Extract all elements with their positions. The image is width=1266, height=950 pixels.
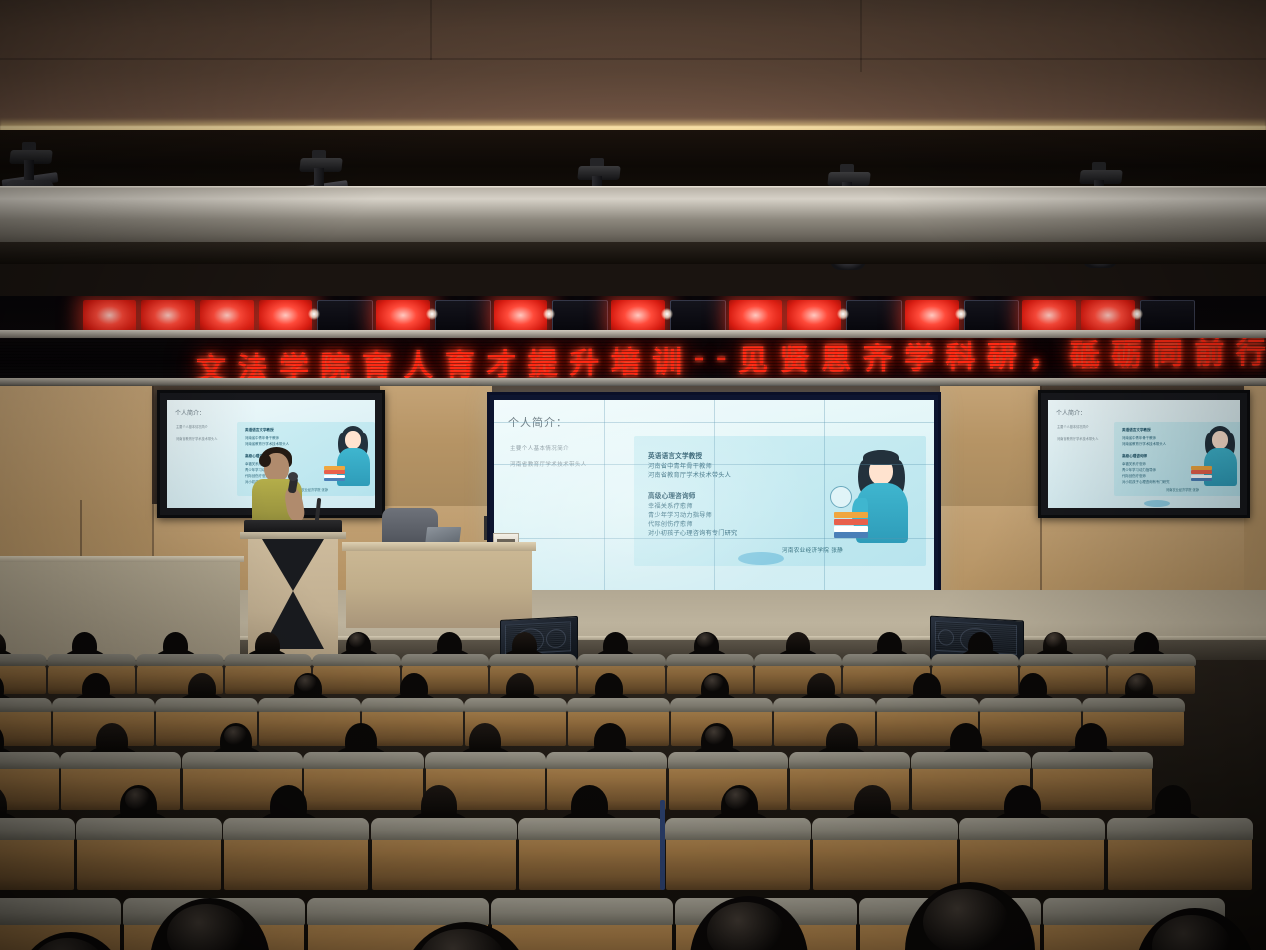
card-line: 幸福关系疗愈师 xyxy=(648,501,693,510)
seat-cushion xyxy=(0,752,60,769)
led-char: 砥 xyxy=(1070,338,1100,375)
illustration-hair-top xyxy=(863,450,899,465)
mini-slide-card: 英语语言文学教授 河南省中青年骨干教师 河南省教育厅学术技术带头人 高级心理咨询… xyxy=(1114,422,1240,496)
mini-card-signature: 河南农业经济学院 张静 xyxy=(1166,487,1199,492)
seat-cushion xyxy=(518,818,664,840)
light-strip-cell xyxy=(787,300,841,334)
book xyxy=(1191,470,1212,474)
microphone-head xyxy=(288,472,298,481)
mini-slide-bullet: 河南省教育厅学术技术带头人 xyxy=(176,436,217,441)
light-strip-cell xyxy=(494,300,548,334)
led-banner-text: 文法学院育人育才提升培训--见贤思齐学科研，砥砺同前行 xyxy=(196,338,1266,382)
seat-cushion xyxy=(1032,752,1153,769)
seat-cushion xyxy=(464,698,567,712)
led-char: 法 xyxy=(237,343,267,382)
auditorium-seat[interactable] xyxy=(372,818,516,890)
auditorium-seat[interactable] xyxy=(790,752,909,810)
video-wall-screen: 个人简介： 主要个人基本情况简介 河南省教育厅学术技术带头人 英语语言文学教授 … xyxy=(494,400,934,596)
mini-card-line: 河南省中青年骨干教师 xyxy=(1122,435,1156,440)
mini-slide-bullet: 河南省教育厅学术技术带头人 xyxy=(1057,436,1098,441)
seat-back xyxy=(932,664,1018,694)
led-char: 提 xyxy=(528,339,558,382)
led-char: 文 xyxy=(196,344,226,382)
illustration-face xyxy=(1212,431,1228,449)
videowall-tile-seam xyxy=(494,538,934,539)
led-char: 研 xyxy=(987,338,1017,376)
book xyxy=(834,519,868,525)
videowall-tile-seam xyxy=(604,400,605,596)
light-strip-cell xyxy=(611,300,665,334)
led-char: - xyxy=(694,343,705,373)
led-char: 行 xyxy=(1236,338,1266,372)
led-char: 训 xyxy=(652,338,682,381)
seat-cushion xyxy=(182,752,303,769)
lectern-top-lip xyxy=(240,532,346,539)
led-char: 才 xyxy=(486,339,516,382)
seat-cushion xyxy=(303,752,424,769)
seat-back xyxy=(0,708,51,746)
seat-back xyxy=(1033,762,1152,810)
truss-shadow xyxy=(0,242,1266,264)
seat-back xyxy=(0,762,59,810)
book xyxy=(324,478,345,481)
book xyxy=(324,470,345,474)
mini-card-line: 河南省教育厅学术技术带头人 xyxy=(245,441,289,446)
side-table-edge xyxy=(342,542,536,551)
led-char: 见 xyxy=(738,338,768,380)
light-strip-spark xyxy=(837,308,849,320)
light-strip-cell xyxy=(1022,300,1076,334)
light-strip-cell xyxy=(83,300,137,334)
mini-slide-blob xyxy=(1144,500,1170,507)
seat-cushion xyxy=(224,654,312,666)
seat-cushion xyxy=(665,818,811,840)
seat-cushion xyxy=(1082,698,1185,712)
auditorium-seat[interactable] xyxy=(304,752,423,810)
seat-back xyxy=(774,708,875,746)
led-char: 升 xyxy=(569,338,599,382)
slide-illustration-woman xyxy=(1200,426,1240,490)
slide-bullet: 主要个人基本情况简介 xyxy=(510,444,569,452)
seat-cushion xyxy=(670,698,773,712)
seat-cushion xyxy=(754,654,842,666)
seat-cushion xyxy=(1107,654,1195,666)
illustration-books xyxy=(324,466,345,481)
auditorium-seat[interactable] xyxy=(224,818,368,890)
led-banner: 文法学院育人育才提升培训--见贤思齐学科研，砥砺同前行 xyxy=(0,338,1266,382)
light-strip-cell xyxy=(729,300,783,334)
card-heading-1: 英语语言文学教授 xyxy=(648,450,702,460)
light-strip-cell xyxy=(1081,300,1135,334)
auditorium-seat[interactable] xyxy=(960,818,1104,890)
illustration-globe xyxy=(830,486,852,508)
illustration-books xyxy=(834,512,868,536)
mini-slide-title: 个人简介： xyxy=(175,408,205,417)
seat-cushion xyxy=(489,654,577,666)
side-table xyxy=(346,548,532,628)
seat-cushion xyxy=(401,654,489,666)
bag-strap xyxy=(660,800,665,890)
auditorium-seat[interactable] xyxy=(313,654,399,694)
seat-back xyxy=(0,664,46,694)
auditorium-seat[interactable] xyxy=(666,818,810,890)
led-char: 育 xyxy=(362,341,392,382)
light-strip-spark xyxy=(426,308,438,320)
light-strip-cell xyxy=(905,300,959,334)
slide-profile-card: 英语语言文学教授 河南省中青年骨干教师 河南省教育厅学术技术带头人 高级心理咨询… xyxy=(634,436,926,566)
mini-card-heading: 英语语言文学教授 xyxy=(1122,428,1151,433)
seat-back xyxy=(304,762,423,810)
card-signature: 河南农业经济学院 张静 xyxy=(782,546,843,554)
led-char: 贤 xyxy=(780,338,810,379)
auditorium-seat[interactable] xyxy=(0,654,46,694)
auditorium-seat[interactable] xyxy=(492,898,672,950)
auditorium-seat[interactable] xyxy=(519,818,663,890)
seat-cushion xyxy=(0,654,47,666)
ceiling-seam xyxy=(430,0,432,60)
led-char: 科 xyxy=(946,338,976,377)
seat-cushion xyxy=(1019,654,1107,666)
right-wall-monitor[interactable]: 个人简介： 主要个人基本情况简介 河南省教育厅学术技术带头人 英语语言文学教授 … xyxy=(1038,390,1250,518)
led-char: 学 xyxy=(279,343,309,382)
seat-cushion xyxy=(52,698,155,712)
card-line: 河南省中青年骨干教师 xyxy=(648,461,712,470)
seat-cushion xyxy=(842,654,930,666)
auditorium-seat[interactable] xyxy=(932,654,1018,694)
led-char: 学 xyxy=(904,338,934,377)
mini-card-line: 对小初孩子心理咨询有专门研究 xyxy=(1122,479,1169,484)
mini-slide-bullet: 主要个人基本情况简介 xyxy=(176,424,208,429)
book xyxy=(834,512,868,518)
seat-cushion xyxy=(60,752,181,769)
light-strip-cell xyxy=(259,300,313,334)
desk-microphone xyxy=(484,516,487,540)
ceiling-seam xyxy=(0,58,1266,60)
seat-cushion xyxy=(931,654,1019,666)
seat-cushion xyxy=(911,752,1032,769)
mini-card-heading: 高级心理咨询师 xyxy=(1122,454,1147,459)
seat-cushion xyxy=(577,654,665,666)
mini-slide-bullet: 主要个人基本情况简介 xyxy=(1057,424,1089,429)
videowall-tile-seam xyxy=(714,400,715,596)
led-char: 院 xyxy=(320,342,350,382)
led-char: 砺 xyxy=(1111,338,1141,374)
seat-cushion xyxy=(812,818,958,840)
card-line: 河南省教育厅学术技术带头人 xyxy=(648,470,731,479)
card-line: 青少年学习动力指导师 xyxy=(648,510,712,519)
seat-cushion xyxy=(136,654,224,666)
book xyxy=(1191,478,1212,481)
mini-slide-title: 个人简介： xyxy=(1056,408,1086,417)
seat-cushion xyxy=(567,698,670,712)
light-strip-spark xyxy=(955,308,967,320)
presenter-hair-bun xyxy=(259,454,271,467)
auditorium-seat[interactable] xyxy=(362,698,463,746)
led-char: 培 xyxy=(611,338,641,382)
slide-decor-blob xyxy=(738,552,784,565)
seat-cushion xyxy=(425,752,546,769)
videowall-tile-seam xyxy=(824,400,825,596)
audience-area xyxy=(0,660,1266,950)
mini-card-line: 代际创伤疗愈师 xyxy=(1122,473,1146,478)
wall-panel-center-left xyxy=(380,386,492,506)
seat-cushion xyxy=(546,752,667,769)
auditorium-seat[interactable] xyxy=(0,752,59,810)
slide-illustration-woman xyxy=(333,426,373,490)
mini-card-line: 河南省中青年骨干教师 xyxy=(245,435,279,440)
mini-card-line: 幸福关系疗愈师 xyxy=(1122,461,1146,466)
auditorium-seat[interactable] xyxy=(0,698,51,746)
main-video-wall[interactable]: 个人简介： 主要个人基本情况简介 河南省教育厅学术技术带头人 英语语言文学教授 … xyxy=(487,392,941,604)
illustration-face xyxy=(345,431,361,449)
seat-cushion xyxy=(959,818,1105,840)
seat-cushion xyxy=(0,698,52,712)
seat-cushion xyxy=(773,698,876,712)
seat-cushion xyxy=(876,698,979,712)
seat-cushion xyxy=(789,752,910,769)
seat-cushion xyxy=(668,752,789,769)
seat-cushion xyxy=(979,698,1082,712)
lighting-truss xyxy=(0,188,1266,248)
light-strip-spark xyxy=(661,308,673,320)
auditorium-seat[interactable] xyxy=(1033,752,1152,810)
seat-cushion xyxy=(361,698,464,712)
illustration-books xyxy=(1191,466,1212,481)
seat-back xyxy=(790,762,909,810)
light-strip-cell xyxy=(141,300,195,334)
light-strip-cell xyxy=(200,300,254,334)
ceiling-seam xyxy=(860,0,862,72)
auditorium-photo: 文法学院育人育才提升培训--见贤思齐学科研，砥砺同前行 个人简介： 主要个人基本… xyxy=(0,0,1266,950)
led-char: 同 xyxy=(1153,338,1183,373)
led-char: ， xyxy=(1028,338,1058,375)
mini-card-heading: 英语语言文学教授 xyxy=(245,428,274,433)
auditorium-seat[interactable] xyxy=(77,818,221,890)
videowall-tile-seam xyxy=(494,464,934,465)
seat-cushion xyxy=(491,898,673,925)
seat-back xyxy=(362,708,463,746)
seat-back xyxy=(980,708,1081,746)
seat-cushion xyxy=(666,654,754,666)
lectern-front-pattern xyxy=(262,539,324,591)
stage-left-riser-edge xyxy=(0,556,244,562)
auditorium-seat[interactable] xyxy=(1108,818,1252,890)
slide-illustration-woman xyxy=(850,450,920,558)
auditorium-seat[interactable] xyxy=(774,698,875,746)
speaker-driver xyxy=(938,629,954,646)
seat-back xyxy=(313,664,399,694)
auditorium-seat[interactable] xyxy=(813,818,957,890)
seat-cushion xyxy=(47,654,135,666)
led-char: 齐 xyxy=(863,338,893,378)
card-line: 代际创伤疗愈师 xyxy=(648,519,693,528)
mini-card-line: 青少年学习动力指导师 xyxy=(1122,467,1156,472)
seat-cushion xyxy=(76,818,222,840)
audience-member-head xyxy=(905,882,1035,950)
mini-card-line: 河南省教育厅学术技术带头人 xyxy=(1122,441,1166,446)
wall-panel-center-right xyxy=(940,386,1040,506)
led-char: 思 xyxy=(821,338,851,379)
seat-cushion xyxy=(223,818,369,840)
right-monitor-screen: 个人简介： 主要个人基本情况简介 河南省教育厅学术技术带头人 英语语言文学教授 … xyxy=(1048,400,1240,508)
seat-cushion xyxy=(155,698,258,712)
seat-cushion xyxy=(0,898,121,925)
videowall-tile-seam xyxy=(494,422,934,423)
led-char: 前 xyxy=(1194,338,1224,373)
led-char: 育 xyxy=(445,340,475,382)
ceiling-soffit xyxy=(0,130,1266,190)
seat-cushion xyxy=(258,698,361,712)
ceiling xyxy=(0,0,1266,132)
card-heading-2: 高级心理咨询师 xyxy=(648,490,696,500)
light-strip-spark xyxy=(1131,308,1143,320)
card-line: 对小初孩子心理咨询有专门研究 xyxy=(648,528,737,537)
seat-cushion xyxy=(1107,818,1253,840)
auditorium-seat[interactable] xyxy=(980,698,1081,746)
seat-cushion xyxy=(307,898,489,925)
led-char: 人 xyxy=(403,341,433,382)
seat-cushion xyxy=(312,654,400,666)
auditorium-seat[interactable] xyxy=(0,818,74,890)
seat-cushion xyxy=(0,818,75,840)
seat-cushion xyxy=(371,818,517,840)
light-strip-cell xyxy=(376,300,430,334)
led-char: - xyxy=(716,343,727,373)
